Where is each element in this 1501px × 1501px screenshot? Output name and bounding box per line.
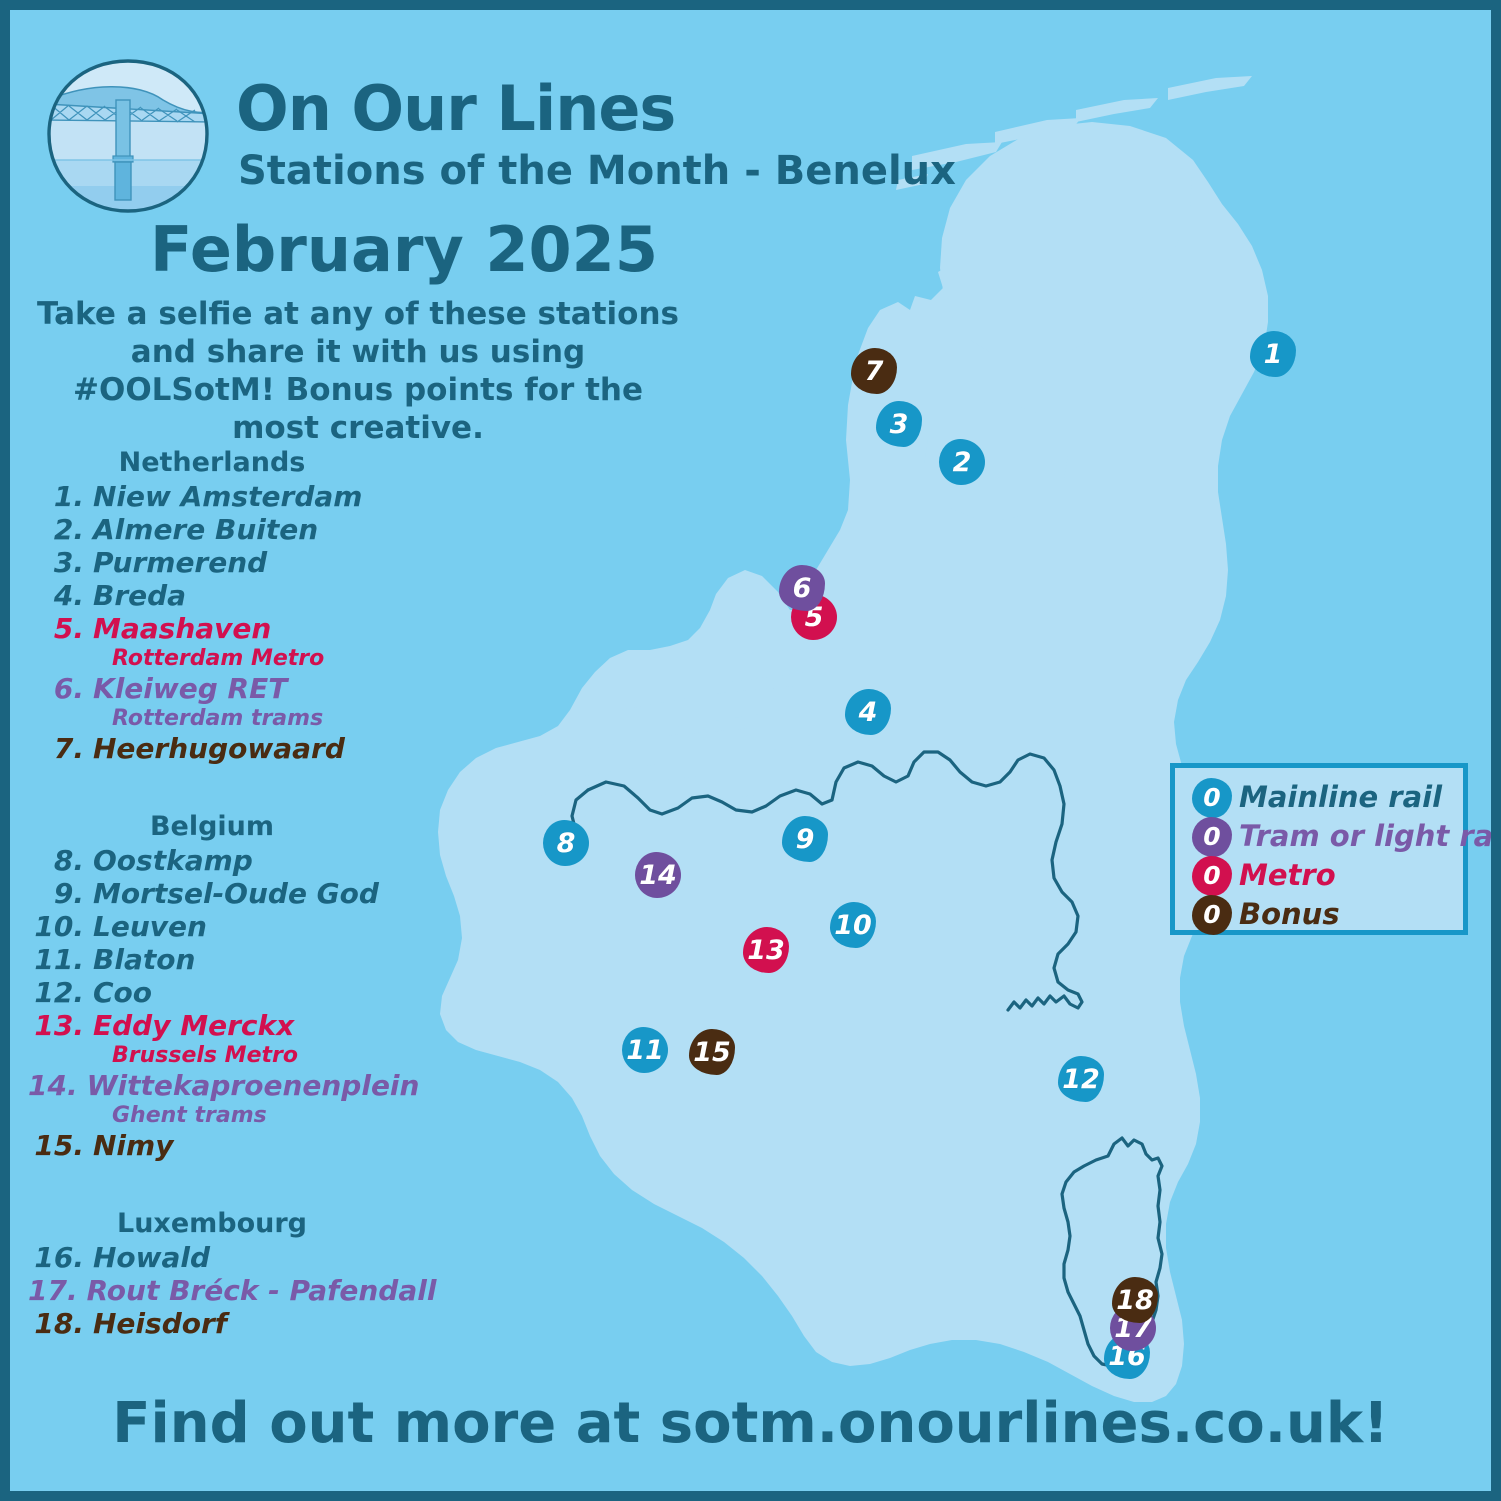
station-name: Kleiweg RET xyxy=(93,672,287,705)
list-item: 16.Howald xyxy=(28,1241,388,1274)
station-number: 13. xyxy=(28,1009,84,1042)
map-marker-13[interactable]: 13 xyxy=(743,927,789,973)
legend-pin-tram-icon: 0 xyxy=(1192,817,1232,857)
list-item: 7.Heerhugowaard xyxy=(28,732,388,765)
map-marker-1[interactable]: 1 xyxy=(1250,331,1296,377)
station-name: Oostkamp xyxy=(93,844,253,877)
country-block-belgium: Belgium 8.Oostkamp 9.Mortsel-Oude God 10… xyxy=(28,811,388,1162)
wadden-island-3 xyxy=(1076,98,1158,122)
list-item: 3.Purmerend xyxy=(28,546,388,579)
marker-number: 13 xyxy=(747,937,785,964)
marker-number: 12 xyxy=(1062,1066,1100,1093)
legend-item-mainline-rail: 0 Mainline rail xyxy=(1192,781,1463,814)
legend-item-bonus: 0 Bonus xyxy=(1192,898,1463,931)
list-item: 17.Rout Bréck - Pafendall xyxy=(28,1274,388,1307)
legend-item-metro: 0 Metro xyxy=(1192,859,1463,892)
list-item: 14.Wittekaproenenplein xyxy=(28,1069,388,1102)
station-subtitle: Rotterdam trams xyxy=(112,705,388,732)
marker-number: 2 xyxy=(953,449,972,476)
station-name: Eddy Merckx xyxy=(93,1009,294,1042)
map-marker-7[interactable]: 7 xyxy=(851,348,897,394)
marker-number: 9 xyxy=(796,826,815,853)
station-name: Leuven xyxy=(93,910,207,943)
station-name: Nimy xyxy=(93,1129,173,1162)
map-marker-3[interactable]: 3 xyxy=(876,401,922,447)
map-marker-9[interactable]: 9 xyxy=(782,816,828,862)
list-item: 2.Almere Buiten xyxy=(28,513,388,546)
station-number: 5. xyxy=(28,612,84,645)
station-name: Blaton xyxy=(93,943,195,976)
marker-number: 11 xyxy=(626,1037,664,1064)
marker-number: 14 xyxy=(639,862,677,889)
station-number: 18. xyxy=(28,1307,84,1340)
marker-number: 15 xyxy=(693,1039,731,1066)
month-title: February 2025 xyxy=(150,218,658,282)
station-number: 17. xyxy=(28,1274,78,1307)
map-marker-11[interactable]: 11 xyxy=(622,1027,668,1073)
station-number: 9. xyxy=(28,877,84,910)
country-heading: Luxembourg xyxy=(28,1208,388,1239)
station-number: 8. xyxy=(28,844,84,877)
bridge-logo-icon xyxy=(43,56,213,216)
instruction-blurb: Take a selfie at any of these stations a… xyxy=(28,295,688,447)
legend-pin-number: 0 xyxy=(1203,902,1220,927)
country-heading: Netherlands xyxy=(28,447,388,478)
station-number: 6. xyxy=(28,672,84,705)
station-number: 7. xyxy=(28,732,84,765)
station-name: Heisdorf xyxy=(93,1307,227,1340)
station-number: 2. xyxy=(28,513,84,546)
legend-pin-number: 0 xyxy=(1203,785,1220,810)
legend-pin-rail-icon: 0 xyxy=(1192,778,1232,818)
station-name: Rout Bréck - Pafendall xyxy=(87,1274,437,1307)
station-name: Breda xyxy=(93,579,186,612)
list-spacer xyxy=(28,1162,388,1208)
marker-number: 8 xyxy=(557,830,576,857)
brand-subtitle: Stations of the Month - Benelux xyxy=(238,150,956,192)
list-item: 11.Blaton xyxy=(28,943,388,976)
station-number: 10. xyxy=(28,910,84,943)
list-item: 10.Leuven xyxy=(28,910,388,943)
marker-number: 1 xyxy=(1264,341,1283,368)
station-number: 15. xyxy=(28,1129,84,1162)
legend-pin-number: 0 xyxy=(1203,824,1220,849)
list-item: 6.Kleiweg RET xyxy=(28,672,388,705)
wadden-island-4 xyxy=(1168,76,1252,100)
station-name: Niew Amsterdam xyxy=(93,480,362,513)
map-marker-6[interactable]: 6 xyxy=(779,565,825,611)
station-name: Coo xyxy=(93,976,152,1009)
station-number: 16. xyxy=(28,1241,84,1274)
station-number: 1. xyxy=(28,480,84,513)
map-marker-12[interactable]: 12 xyxy=(1058,1056,1104,1102)
map-marker-15[interactable]: 15 xyxy=(689,1029,735,1075)
list-spacer xyxy=(28,765,388,811)
map-marker-18[interactable]: 18 xyxy=(1112,1277,1158,1323)
station-number: 11. xyxy=(28,943,84,976)
marker-number: 4 xyxy=(859,699,878,726)
legend-item-tram-light-rail: 0 Tram or light rail xyxy=(1192,820,1463,853)
list-item: 1.Niew Amsterdam xyxy=(28,480,388,513)
station-name: Maashaven xyxy=(93,612,271,645)
list-item: 5.Maashaven xyxy=(28,612,388,645)
list-item: 15.Nimy xyxy=(28,1129,388,1162)
map-marker-2[interactable]: 2 xyxy=(939,439,985,485)
poster-canvas: On Our Lines Stations of the Month - Ben… xyxy=(10,10,1491,1491)
station-name: Heerhugowaard xyxy=(93,732,345,765)
legend-label: Bonus xyxy=(1239,900,1340,929)
legend-pin-metro-icon: 0 xyxy=(1192,856,1232,896)
station-number: 12. xyxy=(28,976,84,1009)
map-marker-10[interactable]: 10 xyxy=(830,902,876,948)
map-marker-4[interactable]: 4 xyxy=(845,689,891,735)
legend-label: Tram or light rail xyxy=(1239,822,1491,851)
list-item: 12.Coo xyxy=(28,976,388,1009)
legend-pin-number: 0 xyxy=(1203,863,1220,888)
station-subtitle: Rotterdam Metro xyxy=(112,645,388,672)
station-number: 3. xyxy=(28,546,84,579)
list-item: 13.Eddy Merckx xyxy=(28,1009,388,1042)
station-subtitle: Ghent trams xyxy=(112,1102,388,1129)
station-name: Mortsel-Oude God xyxy=(93,877,379,910)
legend-label: Mainline rail xyxy=(1239,783,1442,812)
marker-number: 6 xyxy=(793,575,812,602)
station-name: Purmerend xyxy=(93,546,267,579)
map-marker-8[interactable]: 8 xyxy=(543,820,589,866)
map-marker-14[interactable]: 14 xyxy=(635,852,681,898)
marker-number: 18 xyxy=(1116,1287,1154,1314)
country-heading: Belgium xyxy=(28,811,388,842)
list-item: 18.Heisdorf xyxy=(28,1307,388,1340)
station-name: Wittekaproenenplein xyxy=(87,1069,420,1102)
country-block-luxembourg: Luxembourg 16.Howald 17.Rout Bréck - Paf… xyxy=(28,1208,388,1340)
station-number: 14. xyxy=(28,1069,78,1102)
station-subtitle: Brussels Metro xyxy=(112,1042,388,1069)
map-legend: 0 Mainline rail 0 Tram or light rail 0 M… xyxy=(1170,763,1468,935)
list-item: 9.Mortsel-Oude God xyxy=(28,877,388,910)
list-item: 8.Oostkamp xyxy=(28,844,388,877)
marker-number: 7 xyxy=(865,358,884,385)
marker-number: 10 xyxy=(834,912,872,939)
brand-title: On Our Lines xyxy=(236,78,675,140)
marker-number: 3 xyxy=(890,411,909,438)
list-item: 4.Breda xyxy=(28,579,388,612)
legend-pin-bonus-icon: 0 xyxy=(1192,895,1232,935)
legend-label: Metro xyxy=(1239,861,1336,890)
station-lists: Netherlands 1.Niew Amsterdam 2.Almere Bu… xyxy=(28,447,388,1340)
footer-url: Find out more at sotm.onourlines.co.uk! xyxy=(10,1396,1491,1452)
station-number: 4. xyxy=(28,579,84,612)
station-name: Almere Buiten xyxy=(93,513,318,546)
station-name: Howald xyxy=(93,1241,210,1274)
country-block-netherlands: Netherlands 1.Niew Amsterdam 2.Almere Bu… xyxy=(28,447,388,765)
